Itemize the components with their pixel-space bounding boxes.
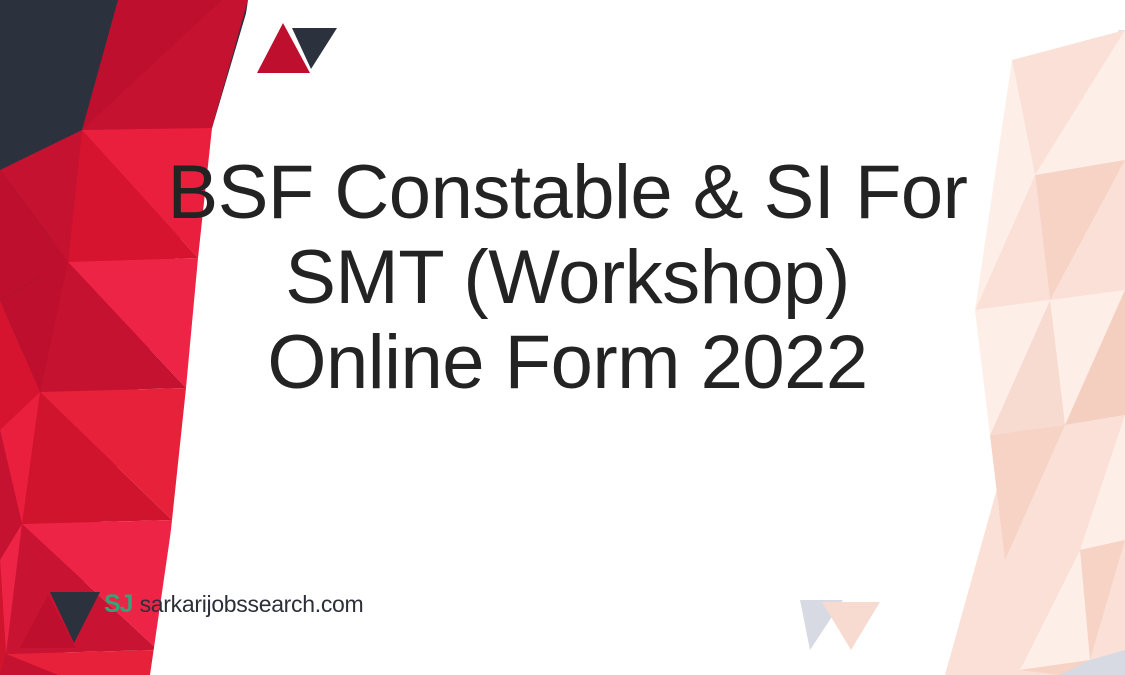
accent-triangle-navy: [292, 28, 337, 69]
title-line-3: Online Form 2022: [80, 320, 1055, 405]
site-logo[interactable]: SJ sarkarijobssearch.com: [104, 592, 363, 617]
banner-graphic: BSF Constable & SI For SMT (Workshop) On…: [0, 0, 1125, 675]
accent-triangle-red: [257, 23, 310, 73]
title-line-2: SMT (Workshop): [80, 235, 1055, 320]
accent-triangle-red-bottom: [20, 595, 76, 648]
accent-triangle-gray-bottom: [800, 600, 843, 650]
title-line-1: BSF Constable & SI For: [80, 150, 1055, 235]
logo-mark-sj: SJ: [104, 592, 133, 617]
logo-site-name: sarkarijobssearch.com: [140, 593, 364, 616]
banner-title: BSF Constable & SI For SMT (Workshop) On…: [80, 150, 1055, 405]
accent-triangle-peach-bottom: [822, 602, 880, 650]
accent-triangle-navy-bottom: [50, 592, 100, 643]
